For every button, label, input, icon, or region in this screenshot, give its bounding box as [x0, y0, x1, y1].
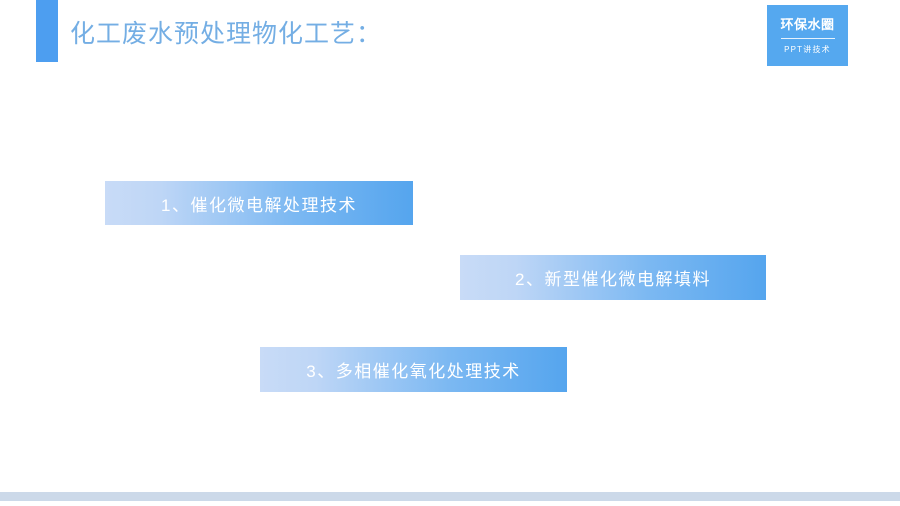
agenda-item-1-label: 1、催化微电解处理技术: [105, 191, 413, 216]
page-title: 化工废水预处理物化工艺：: [70, 14, 382, 54]
agenda-item-3[interactable]: 3、多相催化氧化处理技术: [260, 347, 567, 392]
presentation-slide: 化工废水预处理物化工艺： 环保水圈 PPT讲技术 1、催化微电解处理技术 2、新…: [0, 0, 900, 506]
agenda-item-2-label: 2、新型催化微电解填料: [460, 265, 766, 290]
logo-divider: [781, 38, 835, 39]
title-accent-bar: [36, 0, 58, 62]
logo-primary-text: 环保水圈: [780, 17, 834, 33]
brand-logo: 环保水圈 PPT讲技术: [767, 5, 848, 66]
logo-secondary-text: PPT讲技术: [784, 44, 831, 55]
footer-bar: [0, 492, 900, 501]
agenda-item-2[interactable]: 2、新型催化微电解填料: [460, 255, 766, 300]
agenda-item-3-label: 3、多相催化氧化处理技术: [260, 357, 567, 382]
agenda-item-1[interactable]: 1、催化微电解处理技术: [105, 181, 413, 225]
